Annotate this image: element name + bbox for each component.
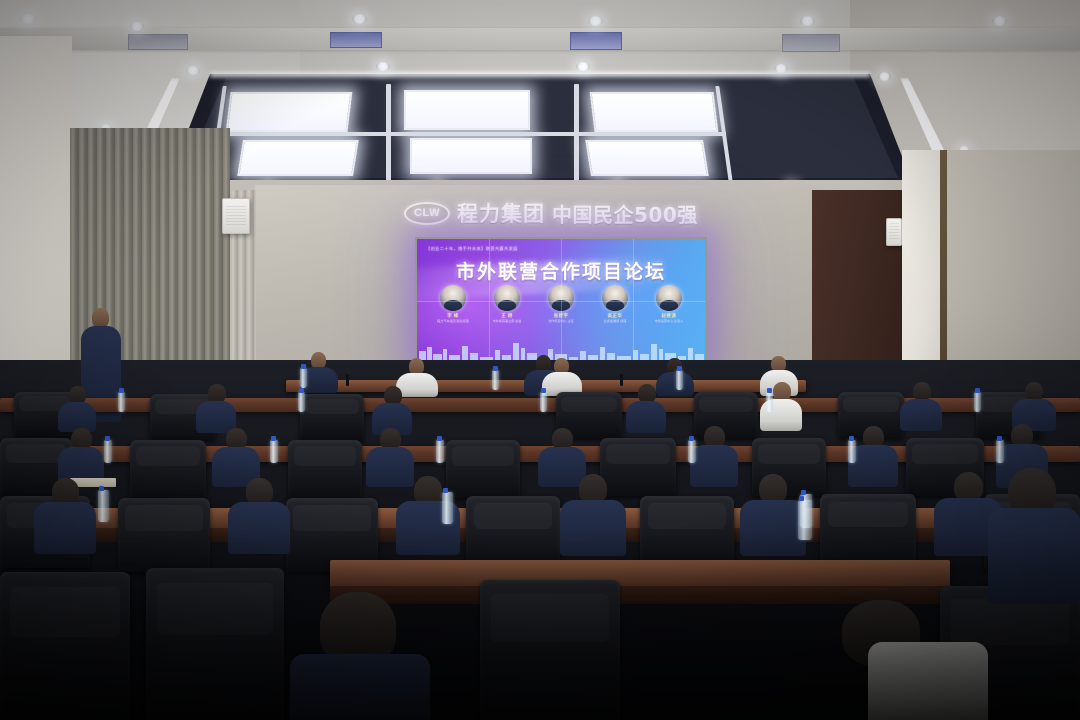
- display-bezel: [417, 301, 705, 302]
- attendee: [372, 386, 412, 432]
- panelist-photo: [440, 285, 466, 311]
- torso: [690, 445, 738, 487]
- water-bottle[interactable]: [104, 440, 112, 463]
- panelist: 赵继源 市场运营中心 负责人: [647, 285, 691, 323]
- downlight: [376, 62, 390, 71]
- chair[interactable]: [480, 580, 620, 720]
- water-bottle[interactable]: [270, 440, 278, 463]
- downlight: [588, 16, 603, 26]
- water-bottle[interactable]: [442, 492, 453, 524]
- attendee: [228, 478, 290, 550]
- ceiling-light-panel: [590, 92, 719, 132]
- video-wall[interactable]: 【创业二十年，携手共未来】联营共赢共发展 市外联营合作项目论坛 李 峰 程力汽车…: [415, 237, 707, 365]
- downlight: [20, 14, 36, 24]
- torso: [868, 642, 988, 720]
- panelist-name: 李 峰: [431, 313, 475, 319]
- chair[interactable]: [0, 572, 130, 720]
- water-bottle[interactable]: [688, 440, 696, 463]
- water-bottle[interactable]: [298, 392, 305, 412]
- torso: [626, 401, 666, 433]
- ceiling-light-panel: [404, 90, 530, 130]
- panelist-desc: 市外联营事业部 总监: [485, 319, 529, 323]
- torso: [228, 502, 290, 554]
- panelist-name: 赵继源: [647, 313, 691, 319]
- attendee: [1012, 382, 1056, 430]
- downlight: [774, 64, 788, 73]
- attendee: [212, 428, 260, 484]
- water-bottle[interactable]: [492, 370, 499, 390]
- downlight: [576, 62, 590, 71]
- water-bottle[interactable]: [436, 440, 444, 463]
- chair[interactable]: [288, 440, 362, 498]
- panelist-desc: 程力汽车集团 副总经理: [431, 319, 475, 323]
- chair[interactable]: [640, 496, 734, 570]
- panelist-name: 王 刚: [485, 313, 529, 319]
- desk-microphone: [620, 374, 623, 386]
- attendee: [740, 474, 806, 550]
- downlight: [878, 72, 891, 81]
- cove-light-top: [210, 72, 870, 77]
- award-text: 中国民企500强: [552, 199, 698, 228]
- wall-signage: CLW 程力集团 中国民企500强: [404, 198, 738, 228]
- panelist-photo: [656, 285, 682, 311]
- panelist: 高正华 业务发展部 经理: [593, 285, 637, 323]
- panel-speaker: [542, 358, 582, 394]
- ceiling-vent: [782, 34, 840, 52]
- panelist: 李 峰 程力汽车集团 副总经理: [431, 285, 475, 323]
- attendee-foreground: [820, 600, 988, 720]
- chair[interactable]: [300, 394, 364, 440]
- downlight: [800, 16, 815, 26]
- chair[interactable]: [820, 494, 916, 570]
- wall-speaker: [886, 218, 902, 246]
- attendee: [900, 382, 942, 430]
- torso: [290, 654, 430, 720]
- attendee: [560, 474, 626, 550]
- water-bottle[interactable]: [798, 500, 812, 540]
- water-bottle[interactable]: [118, 392, 125, 412]
- torso: [988, 508, 1080, 604]
- attendee: [34, 478, 96, 550]
- chair[interactable]: [466, 496, 560, 570]
- attendee: [58, 428, 104, 484]
- ceiling-light-panel: [410, 138, 532, 174]
- downlight: [992, 16, 1007, 26]
- ceiling-vent: [570, 32, 622, 50]
- wall-speaker: [222, 198, 250, 234]
- chair[interactable]: [118, 498, 210, 572]
- panelist-desc: 市场运营中心 负责人: [647, 319, 691, 323]
- chair[interactable]: [146, 568, 284, 720]
- presenter-head: [92, 308, 109, 328]
- conference-room-photo: CLW 程力集团 中国民企500强 【创业二十年，携手共未来】联营共赢共发展 市…: [0, 0, 1080, 720]
- water-bottle[interactable]: [848, 440, 856, 463]
- downlight: [186, 66, 200, 75]
- ceiling-light-panel: [585, 140, 709, 176]
- attendee: [626, 384, 666, 430]
- torso: [560, 500, 626, 556]
- water-bottle[interactable]: [766, 392, 773, 412]
- panelist-photo: [494, 285, 520, 311]
- panelist-desc: 业务发展部 经理: [593, 319, 637, 323]
- water-bottle[interactable]: [676, 370, 683, 390]
- water-bottle[interactable]: [996, 440, 1004, 463]
- water-bottle[interactable]: [974, 392, 981, 412]
- panelist-photo: [602, 285, 628, 311]
- torso: [34, 502, 96, 554]
- water-bottle[interactable]: [540, 392, 547, 412]
- attendee: [196, 384, 236, 430]
- water-bottle[interactable]: [300, 368, 307, 388]
- water-bottle[interactable]: [98, 490, 109, 522]
- company-name-text: 程力集团: [457, 198, 545, 228]
- ceiling-vent: [128, 34, 188, 50]
- downlight: [130, 22, 144, 31]
- ceiling-light-panel: [237, 140, 359, 176]
- downlight: [352, 14, 367, 24]
- slide-subtitle: 【创业二十年，携手共未来】联营共赢共发展: [426, 246, 576, 252]
- desk-microphone: [346, 374, 349, 386]
- clw-logo-icon: CLW: [404, 202, 450, 225]
- attendee-foreground: [988, 468, 1080, 598]
- attendee-foreground: [290, 592, 430, 720]
- panelist-name: 高正华: [593, 313, 637, 319]
- ceiling-vent: [330, 32, 382, 48]
- attendee: [58, 386, 96, 430]
- chair[interactable]: [130, 440, 206, 498]
- attendee: [690, 426, 738, 484]
- ceiling-light-panel: [226, 92, 353, 132]
- panelist: 王 刚 市外联营事业部 总监: [485, 285, 529, 323]
- torso: [740, 500, 806, 556]
- torso: [900, 399, 942, 431]
- panel-divider: [214, 132, 726, 136]
